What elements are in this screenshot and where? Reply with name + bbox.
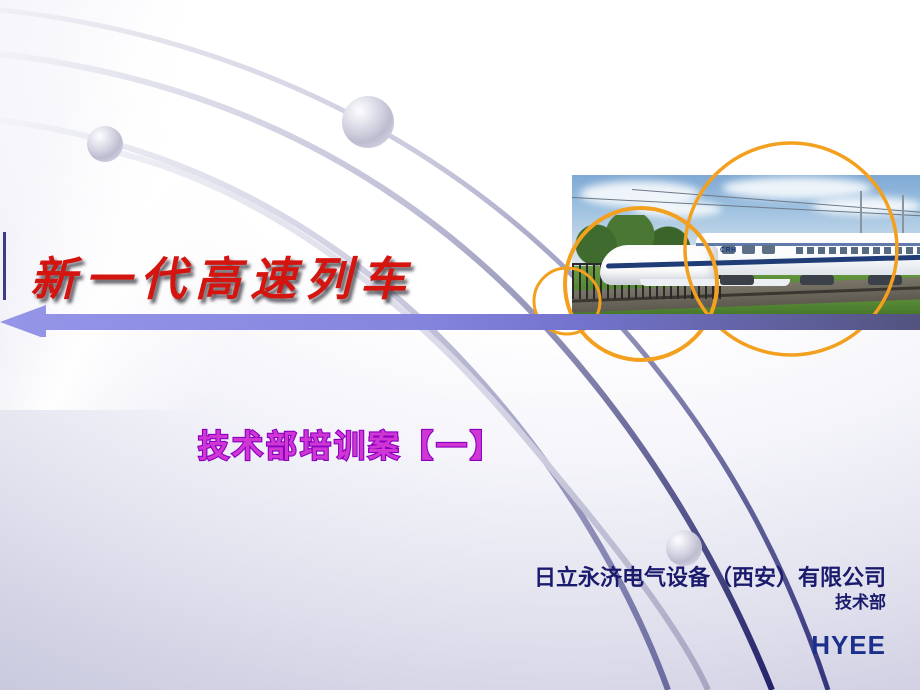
brand-logo-text: HYEE: [811, 630, 886, 661]
train-nose-highlight: [614, 249, 686, 261]
department-name: 技术部: [835, 588, 886, 613]
train-skirt: [640, 279, 790, 286]
train-window-row: [796, 247, 920, 254]
train-body: [696, 233, 920, 275]
sphere-small-left: [87, 126, 123, 162]
swoosh-3: [0, 116, 668, 690]
page-title: 新一代高速列车: [30, 243, 415, 309]
train-bogie: [868, 275, 902, 285]
arrow-shape: [0, 305, 920, 337]
train-bogie: [800, 275, 834, 285]
company-name: 日立永济电气设备（西安）有限公司: [534, 560, 886, 592]
subtitle: 技术部培训案【一】: [198, 421, 504, 466]
train-photo: CRH: [572, 175, 920, 322]
cloud-icon: [722, 177, 872, 199]
train-window: [742, 245, 755, 254]
crh-train: CRH: [600, 223, 920, 285]
left-accent-bar: [3, 232, 6, 300]
presentation-slide: CRH 新一代高速列车 技术部培训案【一】 日立永济电气设备（西安）有限公司 技…: [0, 0, 920, 690]
train-window: [762, 245, 775, 254]
sphere-upper-mid: [342, 96, 394, 148]
crh-logo: CRH: [720, 247, 737, 254]
train-bogie: [720, 275, 754, 285]
